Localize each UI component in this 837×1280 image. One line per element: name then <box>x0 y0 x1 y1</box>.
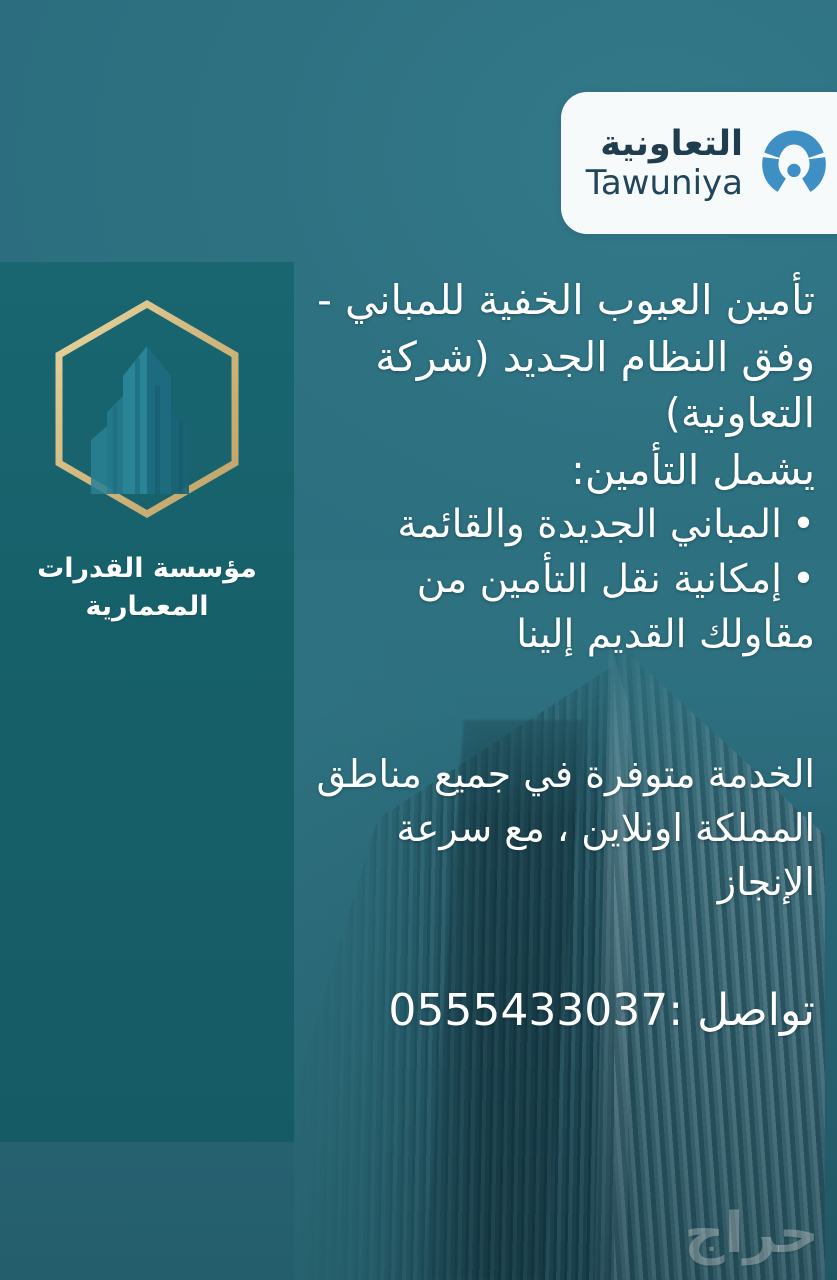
list-item: إمكانية نقل التأمين من مقاولك القديم إلي… <box>295 553 815 662</box>
tawuniya-arabic-name: التعاونية <box>600 127 743 162</box>
tawuniya-wordmark: التعاونية Tawuniya <box>586 127 743 200</box>
copy-spacer-one <box>295 662 815 748</box>
main-copy-column: تأمين العيوب الخفية للمباني - وفق النظام… <box>295 272 815 1039</box>
brand-panel: مؤسسة القدرات المعمارية <box>0 262 294 1142</box>
headline-text: تأمين العيوب الخفية للمباني - وفق النظام… <box>295 272 815 442</box>
brand-panel-company-name: مؤسسة القدرات المعمارية <box>0 550 294 627</box>
list-item: المباني الجديدة والقائمة <box>295 498 815 553</box>
coverage-bullet-list: المباني الجديدة والقائمة إمكانية نقل الت… <box>295 498 815 662</box>
contact-phone-number[interactable]: 0555433037 <box>388 985 668 1036</box>
contact-label: تواصل : <box>668 985 815 1036</box>
copy-spacer-two <box>295 910 815 982</box>
hexagon-buildings-emblem-icon <box>47 298 247 520</box>
includes-label: يشمل التأمين: <box>295 442 815 499</box>
haraj-watermark: حراج <box>684 1201 819 1266</box>
tawuniya-logo-card: التعاونية Tawuniya <box>561 92 837 234</box>
promo-text: الخدمة متوفرة في جميع مناطق المملكة اونل… <box>295 748 815 910</box>
tawuniya-circular-mark-icon <box>757 126 831 200</box>
poster-canvas: مؤسسة القدرات المعمارية التعاونية Tawuni… <box>0 0 837 1280</box>
tawuniya-english-name: Tawuniya <box>586 166 743 200</box>
contact-line[interactable]: تواصل :0555433037 <box>295 982 815 1039</box>
